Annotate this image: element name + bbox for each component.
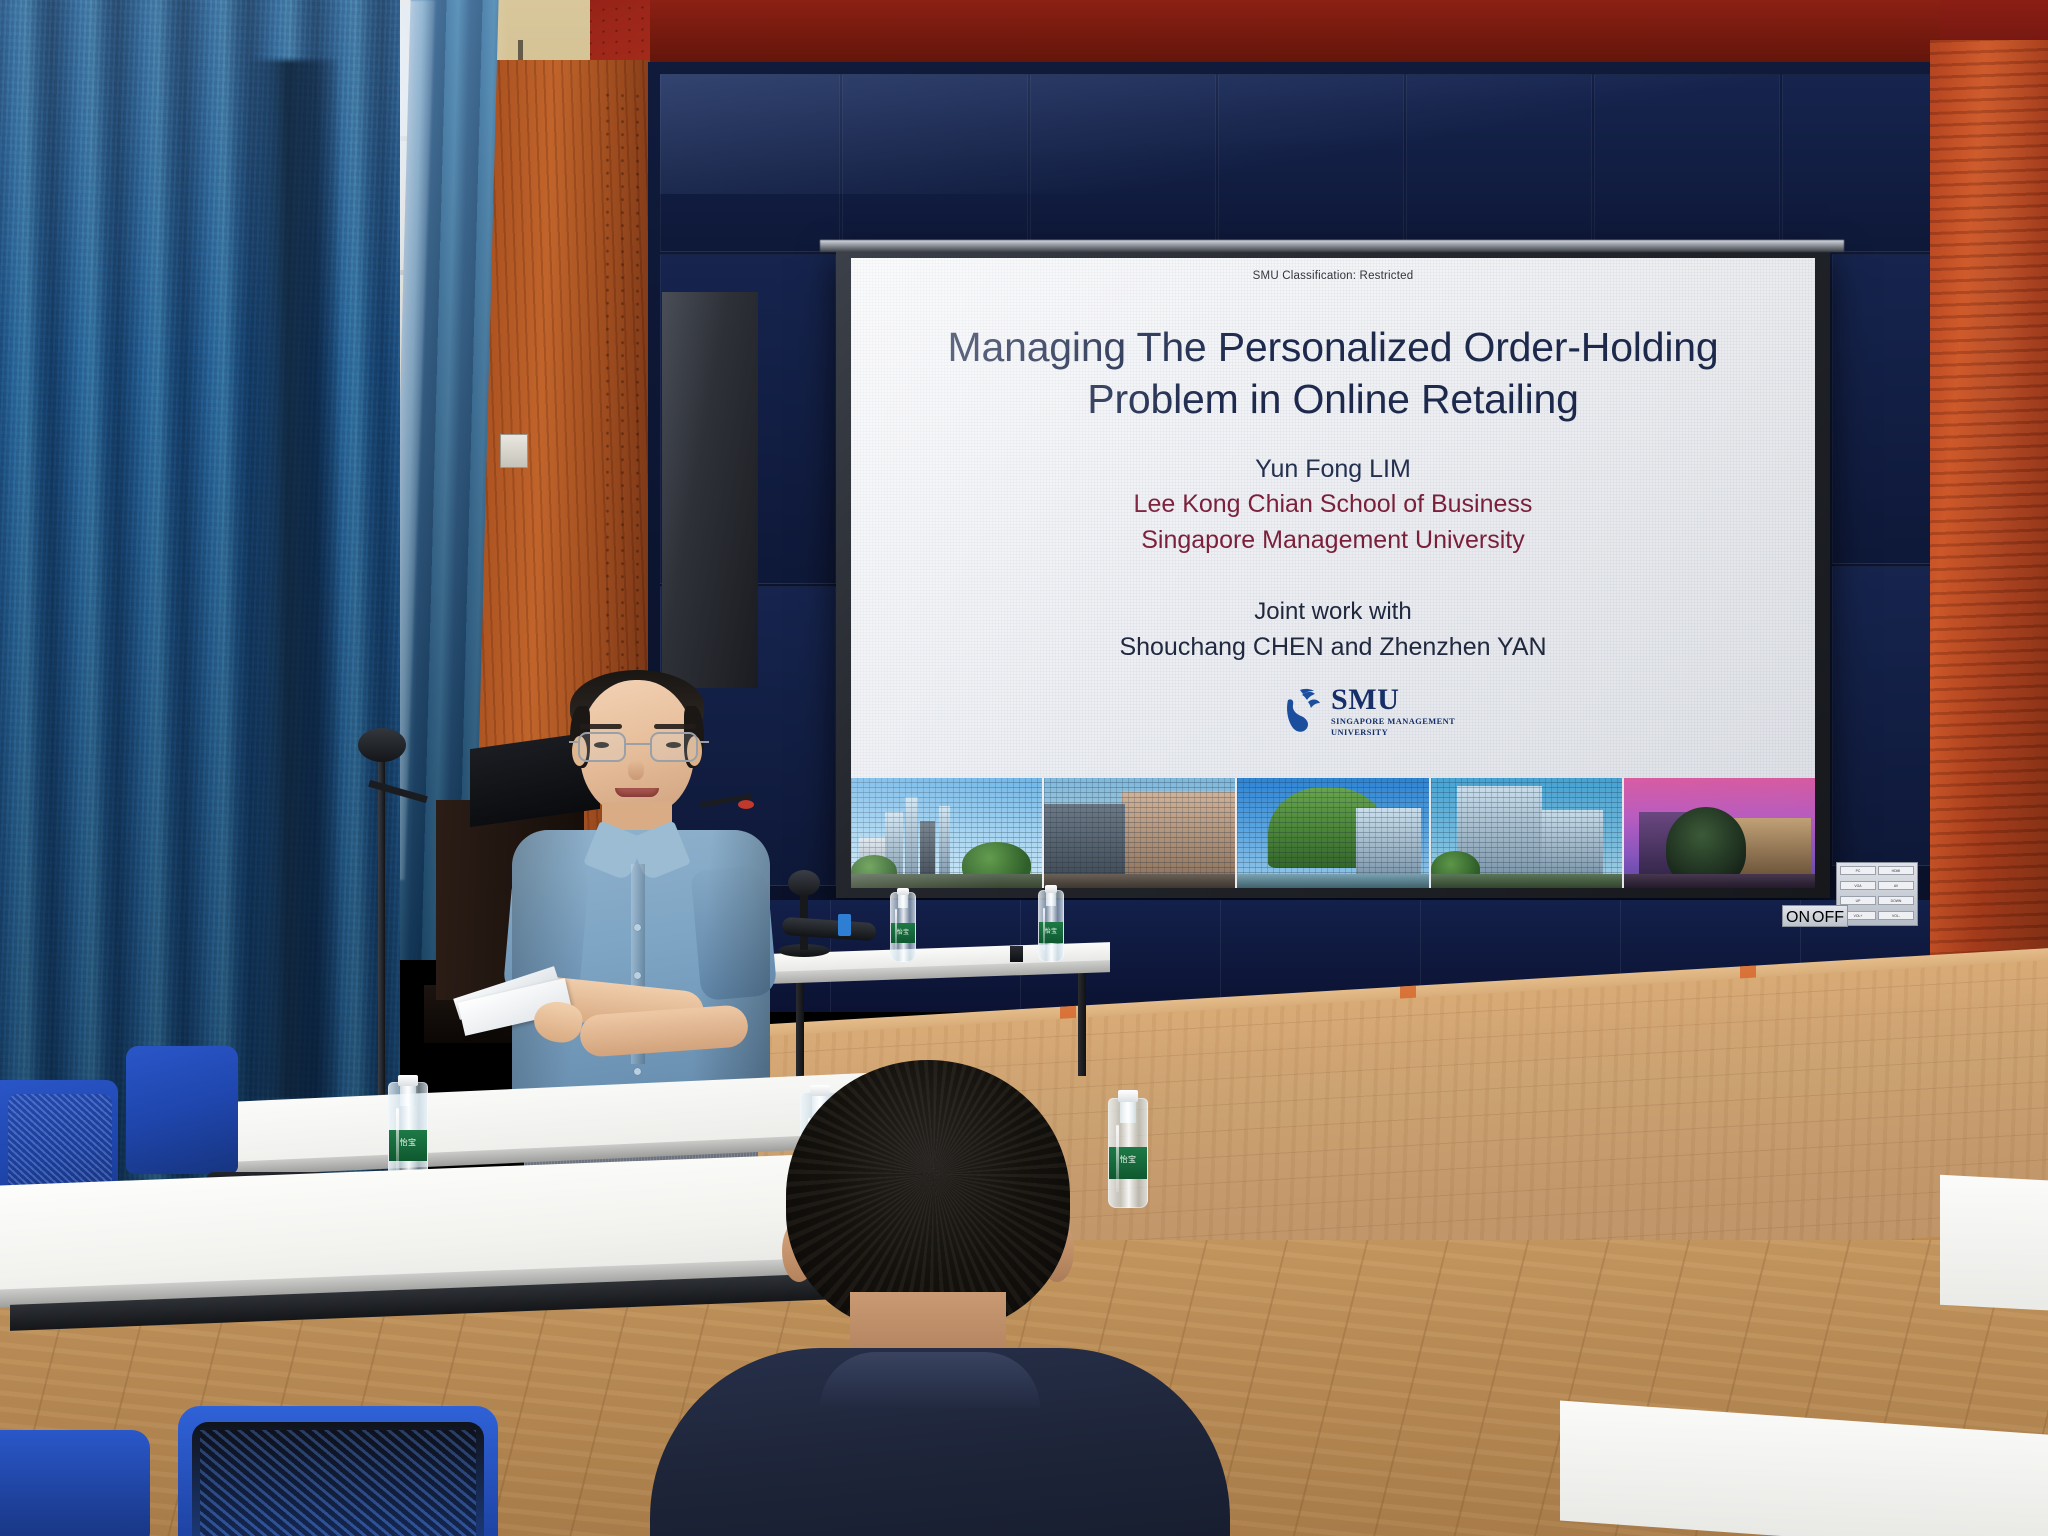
microphone-clip-icon	[838, 914, 851, 936]
av-control-panel[interactable]: PC HDMI VGA AV UP DOWN VOL+ VOL-	[1836, 862, 1918, 926]
chair-foreground[interactable]	[178, 1406, 498, 1536]
navy-wall-highlight	[660, 74, 1946, 194]
navy-wall-panel-right	[1832, 566, 1946, 866]
control-button[interactable]: VGA	[1840, 881, 1876, 890]
slide-screen-glare	[851, 258, 1815, 888]
side-table-right	[1940, 1175, 2048, 1315]
control-button[interactable]: PC	[1840, 866, 1876, 875]
navy-wall-panel-right	[1832, 254, 1946, 564]
desk-microphone-head-icon	[788, 870, 820, 896]
av-control-panel-secondary[interactable]: ON OFF	[1782, 905, 1848, 927]
bottle-cap-icon	[897, 888, 909, 895]
control-button[interactable]: DOWN	[1878, 896, 1914, 905]
control-button[interactable]: OFF	[1812, 909, 1844, 923]
audience-member	[700, 1060, 1160, 1536]
chair-mesh-panel	[200, 1430, 476, 1536]
control-button[interactable]: UP	[1840, 896, 1876, 905]
wall-speaker	[662, 292, 758, 688]
control-button[interactable]: VOL-	[1878, 911, 1914, 920]
water-bottle-stage-right[interactable]: 怡宝	[1038, 888, 1064, 962]
display-chrome-trim	[820, 240, 1844, 252]
chair-blue-left-rear[interactable]	[126, 1046, 238, 1174]
wall-light-switch[interactable]	[500, 434, 528, 468]
floor-microphone-head-icon	[358, 728, 406, 762]
upper-red-wall-band	[650, 0, 1940, 70]
curtain-shadow-fold	[248, 60, 338, 1100]
seminar-room-scene: SMU Classification: Restricted Managing …	[0, 0, 2048, 1536]
water-bottle-stage-left[interactable]: 怡宝	[890, 890, 916, 962]
control-button[interactable]: HDMI	[1878, 866, 1914, 875]
bottle-label: 怡宝	[389, 1130, 427, 1162]
control-button[interactable]: ON	[1786, 909, 1810, 923]
control-button[interactable]: AV	[1878, 881, 1914, 890]
presenter-mouth	[615, 788, 659, 797]
floor-microphone-stand[interactable]	[378, 748, 385, 1128]
title-slide: SMU Classification: Restricted Managing …	[851, 258, 1815, 888]
presentation-display[interactable]: SMU Classification: Restricted Managing …	[851, 258, 1815, 888]
small-device-on-table	[1010, 946, 1023, 962]
audience-collar	[820, 1352, 1040, 1408]
bottle-cap-icon	[1045, 885, 1057, 893]
bottle-cap-icon	[398, 1075, 418, 1087]
wood-grain-right	[1930, 40, 2048, 970]
chair-foreground-left[interactable]	[0, 1430, 150, 1536]
presenter-eyeglasses-icon	[572, 732, 706, 764]
presenter-nose	[628, 760, 644, 780]
